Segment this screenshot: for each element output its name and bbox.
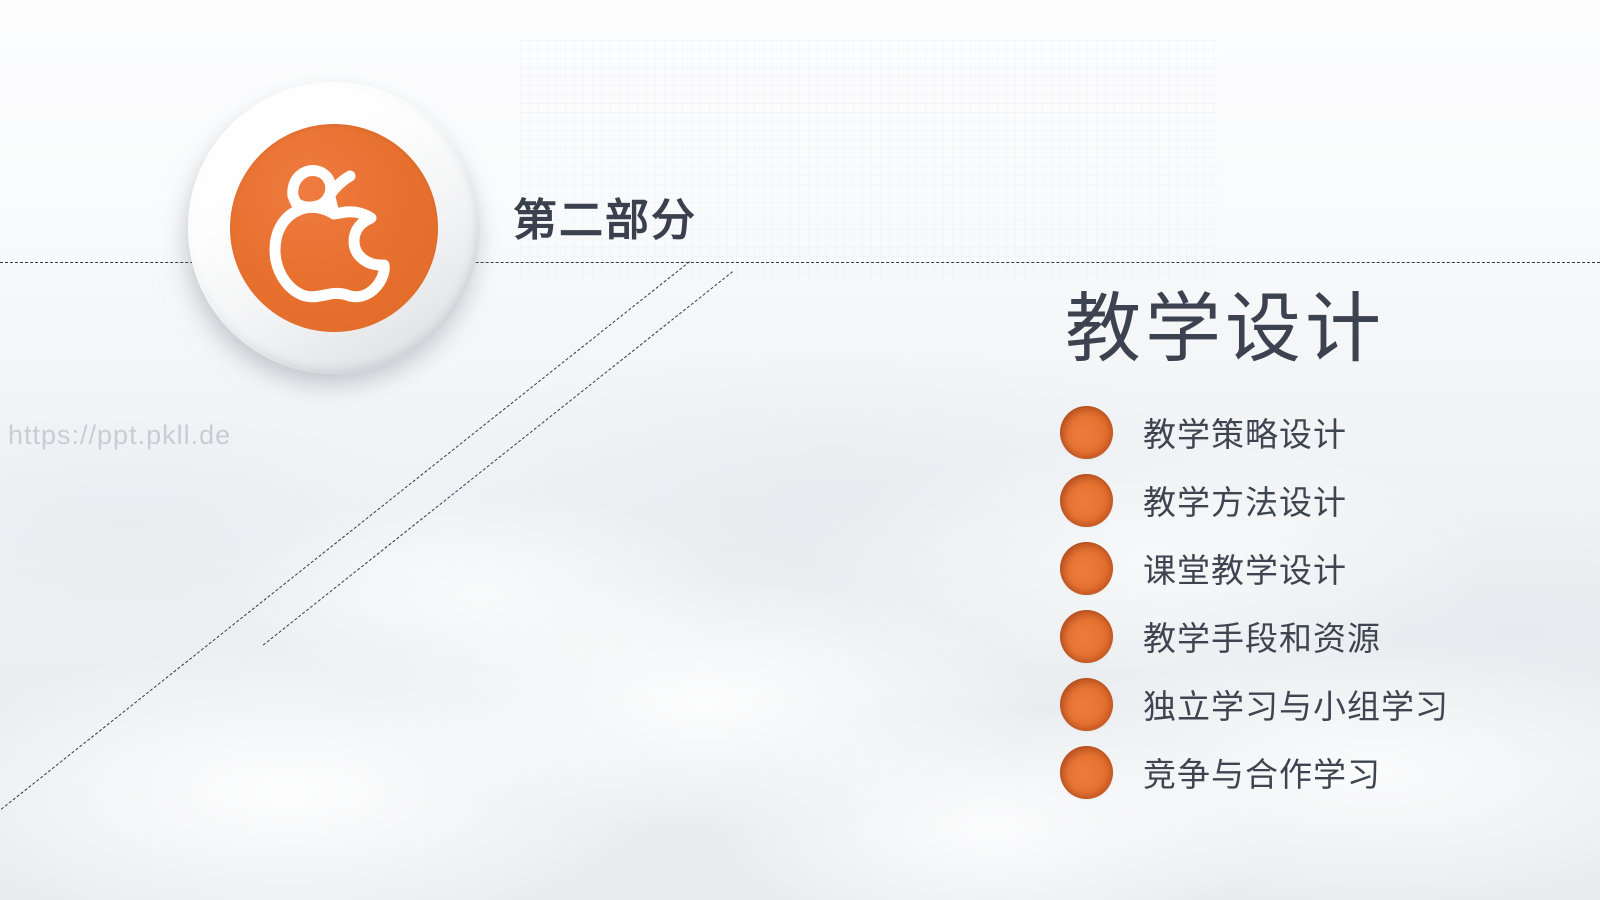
apple-badge — [188, 82, 480, 374]
list-item-label: 独立学习与小组学习 — [1143, 680, 1449, 728]
presentation-slide: 第二部分 https://ppt.pkll.de 教学设计 教学策略设计 教学方… — [0, 0, 1600, 900]
bullet-list: 教学策略设计 教学方法设计 课堂教学设计 教学手段和资源 独立学习与小组学习 竞… — [1060, 398, 1580, 806]
page-title: 教学设计 — [1065, 292, 1580, 368]
badge-inner-circle — [230, 124, 438, 332]
list-item-label: 教学方法设计 — [1143, 476, 1347, 524]
list-item-label: 教学策略设计 — [1143, 408, 1347, 456]
list-item[interactable]: 教学手段和资源 — [1060, 602, 1580, 670]
list-item-label: 教学手段和资源 — [1143, 612, 1381, 660]
bitten-apple-icon — [230, 124, 438, 332]
list-item-label: 课堂教学设计 — [1143, 544, 1347, 592]
bullet-dot-icon — [1060, 610, 1113, 663]
list-item[interactable]: 竞争与合作学习 — [1060, 738, 1580, 806]
list-item[interactable]: 教学策略设计 — [1060, 398, 1580, 466]
section-label: 第二部分 — [513, 184, 697, 248]
bullet-dot-icon — [1060, 474, 1113, 527]
list-item[interactable]: 独立学习与小组学习 — [1060, 670, 1580, 738]
list-item-label: 竞争与合作学习 — [1143, 748, 1381, 796]
bullet-dot-icon — [1060, 678, 1113, 731]
bullet-dot-icon — [1060, 406, 1113, 459]
bullet-dot-icon — [1060, 542, 1113, 595]
bullet-dot-icon — [1060, 746, 1113, 799]
content-block: 教学设计 教学策略设计 教学方法设计 课堂教学设计 教学手段和资源 独立学习与小… — [1060, 292, 1580, 806]
list-item[interactable]: 教学方法设计 — [1060, 466, 1580, 534]
watermark-url: https://ppt.pkll.de — [8, 420, 231, 451]
list-item[interactable]: 课堂教学设计 — [1060, 534, 1580, 602]
